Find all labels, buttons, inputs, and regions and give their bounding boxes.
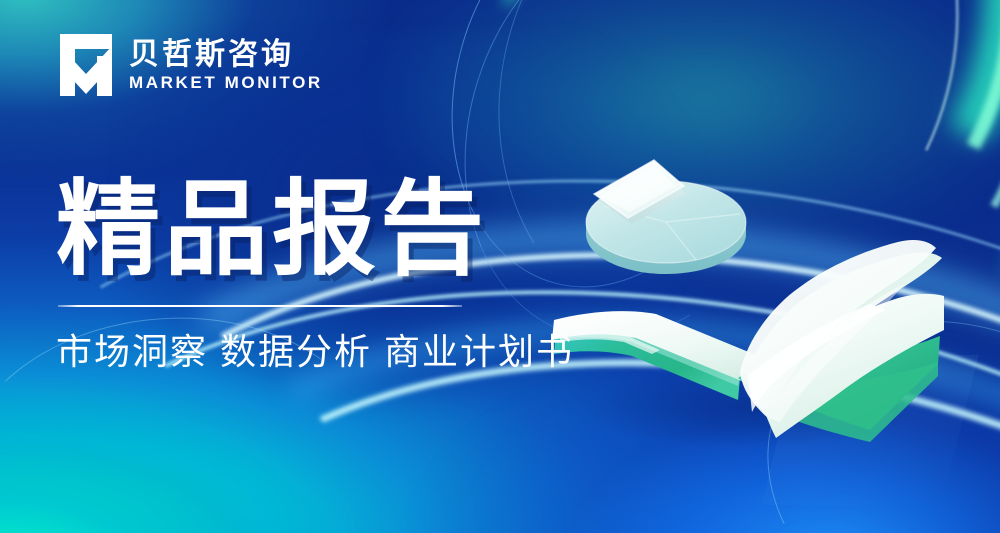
market-monitor-m-logo-icon [58, 34, 114, 96]
page-title: 精品报告 [56, 178, 488, 282]
brand-name-en: MARKET MONITOR [129, 74, 323, 91]
brand-logo-text: 贝哲斯咨询 MARKET MONITOR [129, 40, 323, 91]
open-book-illustration [540, 150, 960, 450]
page-subtitle: 市场洞察 数据分析 商业计划书 [56, 334, 574, 370]
report-promo-banner: 贝哲斯咨询 MARKET MONITOR 精品报告 市场洞察 数据分析 商业计划… [0, 0, 1000, 533]
title-divider [58, 305, 462, 307]
brand-logo[interactable]: 贝哲斯咨询 MARKET MONITOR [58, 34, 323, 96]
brand-name-cn: 贝哲斯咨询 [129, 40, 323, 70]
